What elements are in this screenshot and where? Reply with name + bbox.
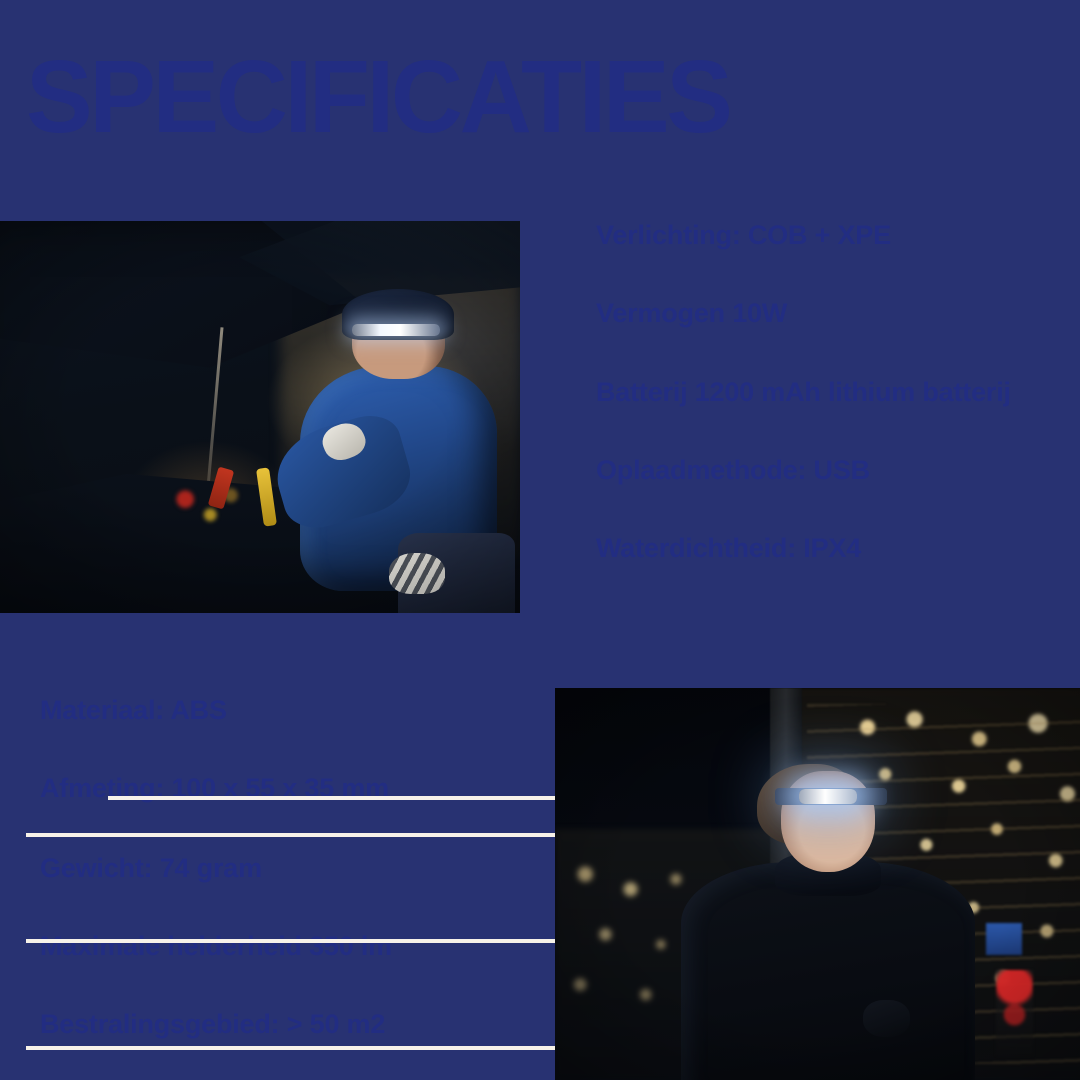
divider-4 [26, 1046, 555, 1050]
night-runner-headlamp-photo [555, 688, 1080, 1080]
mechanic-headlamp-photo [0, 221, 520, 613]
divider-3 [26, 939, 555, 943]
spec-item-oplaadmethode: Oplaadmethode: USB [596, 457, 870, 484]
spec-item-vermogen: Vermogen 10W [596, 300, 787, 327]
spec-item-materiaal: Materiaal: ABS [40, 697, 227, 724]
spec-item-waterdichtheid: Waterdichtheid: IPX4 [596, 535, 861, 562]
divider-1 [108, 796, 555, 800]
divider-2 [26, 833, 555, 837]
spec-item-gewicht: Gewicht: 74 gram [40, 855, 262, 882]
photo-vignette [0, 221, 520, 613]
page-title: SPECIFICATIES [26, 45, 729, 148]
photo-vignette [555, 688, 1080, 1080]
specifications-page: SPECIFICATIES Verlichting: COB + XPE Ver… [0, 0, 1080, 1080]
spec-item-bestralingsgebied: Bestralingsgebied: > 50 m2 [40, 1011, 385, 1038]
spec-item-verlichting: Verlichting: COB + XPE [596, 222, 891, 249]
spec-item-batterij: Batterij 1200 mAh lithium batterij [596, 379, 1011, 406]
spec-item-helderheid: Maximale helderheid 350 lm [40, 933, 392, 960]
